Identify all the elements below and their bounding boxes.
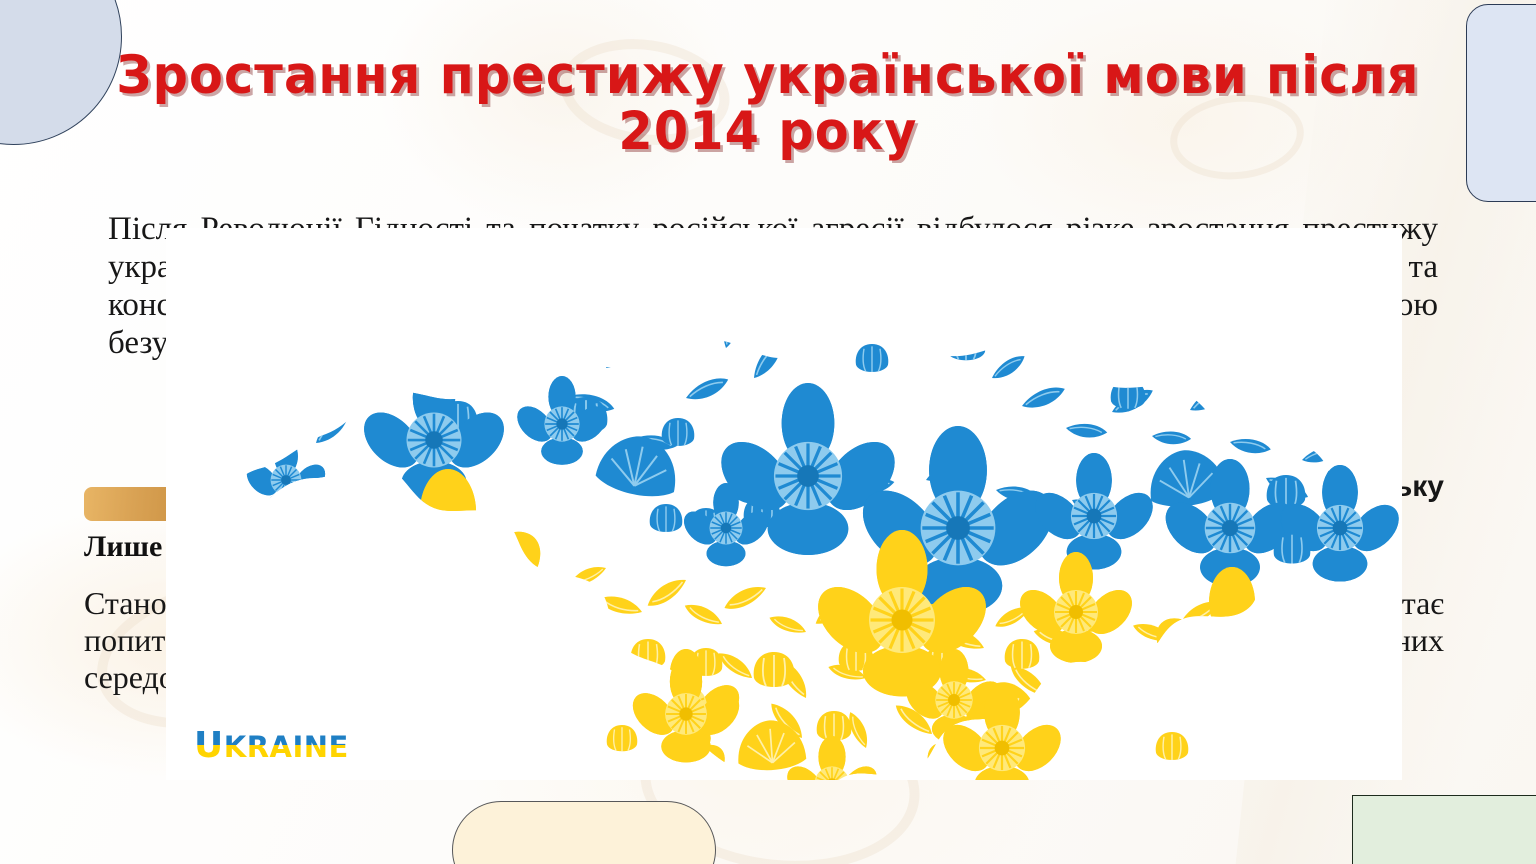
ukraine-logo-initial: U [194,725,224,766]
ukraine-floral-map-svg [166,228,1402,780]
slide-canvas: Зростання престижу української мови післ… [0,0,1536,864]
bullet-chip [84,487,174,521]
ukraine-logo-text: KRAINE [224,730,349,764]
ukraine-floral-map-image: UKRAINE [166,228,1402,780]
decorative-pill-bottom-center [452,801,716,864]
ukraine-logo: UKRAINE [194,728,349,764]
decorative-rect-bottom-right [1352,795,1536,864]
slide-title: Зростання престижу української мови післ… [54,48,1482,160]
